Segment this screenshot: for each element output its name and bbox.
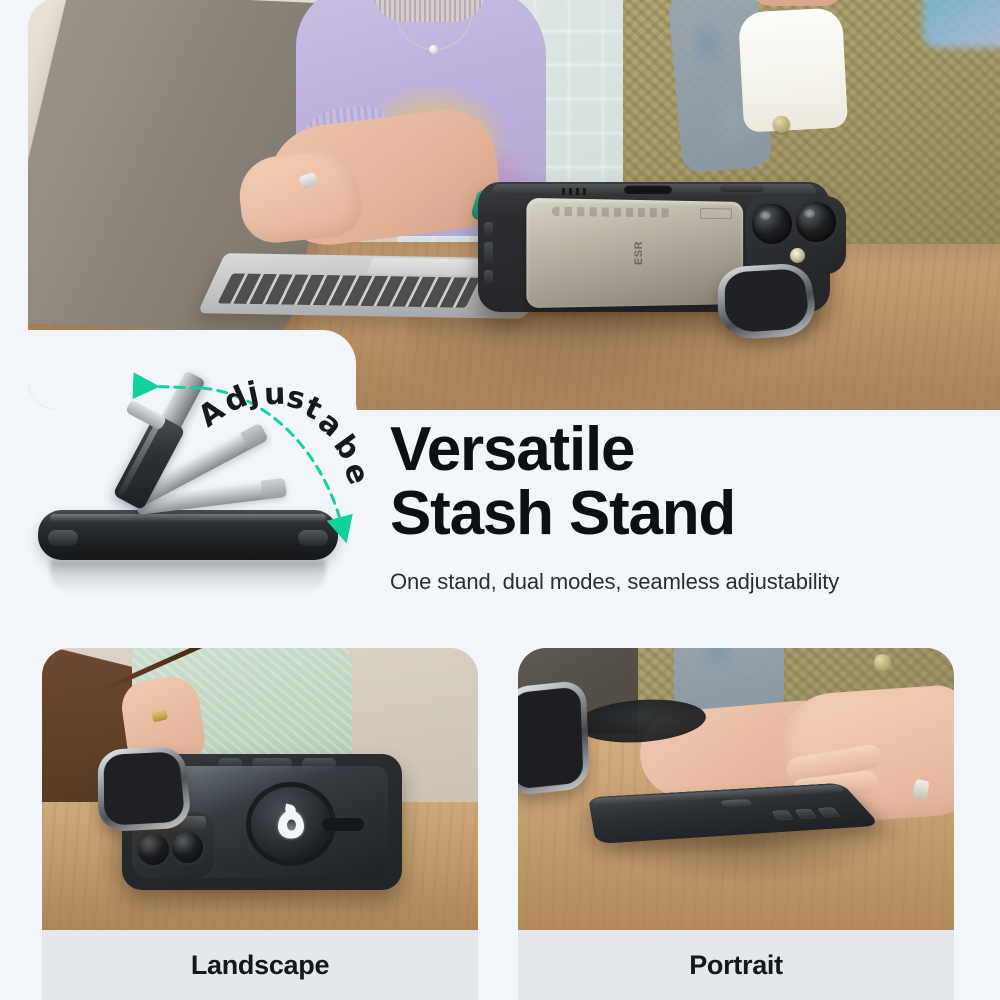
headline-line-1: Versatile [390,418,990,482]
esr-power-bank: ESR [526,198,743,308]
feature-section: A d j u s t a b e Versatile Stash Stand … [0,350,1000,630]
camera-flash [790,248,805,263]
caption-landscape: Landscape [42,930,478,1000]
portrait-mode-photo [518,648,954,930]
adjustable-arc [30,358,390,558]
camera-module [746,196,846,274]
landscape-camera-lens-1 [138,834,169,865]
metal-ring-stand [718,262,820,341]
apple-logo [278,811,304,839]
subheadline: One stand, dual modes, seamless adjustab… [390,569,990,595]
power-button [720,184,764,192]
background-artwork [923,0,1000,48]
camera-lens-1 [752,204,792,244]
mode-cards: Landscape [0,648,1000,1000]
stand-reflection [50,560,326,594]
caption-portrait: Portrait [518,930,954,1000]
cardigan-button [773,116,790,133]
power-bank-badge [700,208,732,219]
speaker-vents [562,188,586,195]
landscape-camera-lens-2 [172,832,203,863]
landscape-back-slot [322,818,364,831]
headline-block: Versatile Stash Stand One stand, dual mo… [390,418,990,595]
landscape-mode-photo [42,648,478,930]
person-right-white-tee [738,7,848,132]
landscape-ring-stand [98,746,193,832]
headline-line-2: Stash Stand [390,482,990,546]
power-bank-fine-print [552,207,673,218]
speaker-cutout [624,185,672,194]
hero-photo-panel: ESR [28,0,1000,410]
esr-logo: ESR [633,241,645,265]
laptop-keyboard [217,273,480,307]
camera-lens-2 [796,202,836,242]
hero-lifestyle-photo: ESR [28,0,1000,410]
portrait-ring-stand [518,680,590,797]
portrait-cardigan-button [874,654,891,671]
mode-card-landscape: Landscape [42,648,478,1000]
adjustable-stand-diagram: A d j u s t a b e [20,360,370,590]
side-buttons [484,222,493,282]
portrait-power-button [720,799,754,808]
portrait-volume-buttons [771,807,849,821]
mode-card-portrait: Portrait [518,648,954,1000]
hero-product-assembly: ESR [468,174,838,354]
